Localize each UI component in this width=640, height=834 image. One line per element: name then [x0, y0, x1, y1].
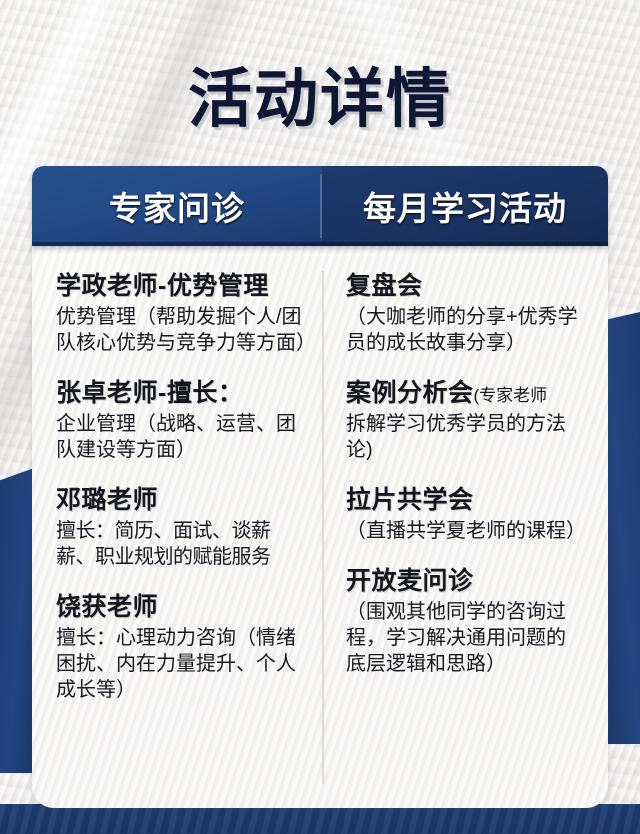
entry-title-text: 案例分析会 [346, 379, 474, 407]
entry-description: （直播共学夏老师的课程） [346, 518, 584, 544]
entry-study-1: 复盘会 （大咖老师的分享+优秀学员的成长故事分享） [346, 271, 584, 356]
decorative-band-bottom [0, 804, 640, 834]
tab-monthly-study[interactable]: 每月学习活动 [322, 166, 608, 246]
page-title: 活动详情 [188, 48, 452, 140]
entry-description: 优势管理（帮助发掘个人/团队核心优势与竞争力等方面） [56, 304, 308, 356]
entry-title: 复盘会 [346, 271, 584, 302]
entry-expert-4: 饶获老师 擅长：心理动力咨询（情绪困扰、内在力量提升、个人成长等） [56, 592, 308, 703]
entry-description: 拆解学习优秀学员的方法论) [346, 411, 584, 463]
entry-study-2: 案例分析会(专家老师 拆解学习优秀学员的方法论) [346, 378, 584, 463]
entry-title: 张卓老师-擅长： [56, 378, 308, 409]
entry-title: 饶获老师 [56, 592, 308, 623]
entry-title: 学政老师-优势管理 [56, 271, 308, 302]
entry-description: 擅长：心理动力咨询（情绪困扰、内在力量提升、个人成长等） [56, 625, 308, 703]
poster-canvas: 活动详情 学政老师-优势管理 优势管理（帮助发掘个人/团队核心优势与竞争力等方面… [0, 0, 640, 834]
entry-study-4: 开放麦问诊 （围观其他同学的咨询过程，学习解决通用问题的底层逻辑和思路） [346, 566, 584, 677]
content-card: 学政老师-优势管理 优势管理（帮助发掘个人/团队核心优势与竞争力等方面） 张卓老… [32, 243, 608, 808]
page-title-container: 活动详情 [0, 48, 640, 140]
entry-description: （围观其他同学的咨询过程，学习解决通用问题的底层逻辑和思路） [346, 599, 584, 677]
entry-study-3: 拉片共学会 （直播共学夏老师的课程） [346, 485, 584, 544]
column-monthly-study: 复盘会 （大咖老师的分享+优秀学员的成长故事分享） 案例分析会(专家老师 拆解学… [322, 271, 608, 784]
entry-title: 邓璐老师 [56, 485, 308, 516]
entry-title: 拉片共学会 [346, 485, 584, 516]
entry-title-text: 开放麦问诊 [346, 567, 474, 595]
tab-label: 专家问诊 [109, 182, 245, 230]
column-expert-consult: 学政老师-优势管理 优势管理（帮助发掘个人/团队核心优势与竞争力等方面） 张卓老… [32, 271, 322, 784]
entry-expert-2: 张卓老师-擅长： 企业管理（战略、运营、团队建设等方面） [56, 378, 308, 463]
columns-container: 学政老师-优势管理 优势管理（帮助发掘个人/团队核心优势与竞争力等方面） 张卓老… [32, 243, 608, 808]
entry-description: 擅长：简历、面试、谈薪薪、职业规划的赋能服务 [56, 518, 308, 570]
entry-title-note: (专家老师 [474, 386, 548, 405]
tab-expert-consult[interactable]: 专家问诊 [32, 166, 322, 246]
entry-description: （大咖老师的分享+优秀学员的成长故事分享） [346, 304, 584, 356]
tab-label: 每月学习活动 [363, 182, 567, 230]
section-header-bar: 专家问诊 每月学习活动 [32, 166, 608, 246]
entry-title-text: 复盘会 [346, 272, 423, 300]
decorative-shape-left [0, 468, 34, 773]
entry-expert-3: 邓璐老师 擅长：简历、面试、谈薪薪、职业规划的赋能服务 [56, 485, 308, 570]
entry-description: 企业管理（战略、运营、团队建设等方面） [56, 411, 308, 463]
entry-title-text: 拉片共学会 [346, 486, 474, 514]
entry-expert-1: 学政老师-优势管理 优势管理（帮助发掘个人/团队核心优势与竞争力等方面） [56, 271, 308, 356]
entry-title: 案例分析会(专家老师 [346, 378, 584, 409]
entry-title: 开放麦问诊 [346, 566, 584, 597]
